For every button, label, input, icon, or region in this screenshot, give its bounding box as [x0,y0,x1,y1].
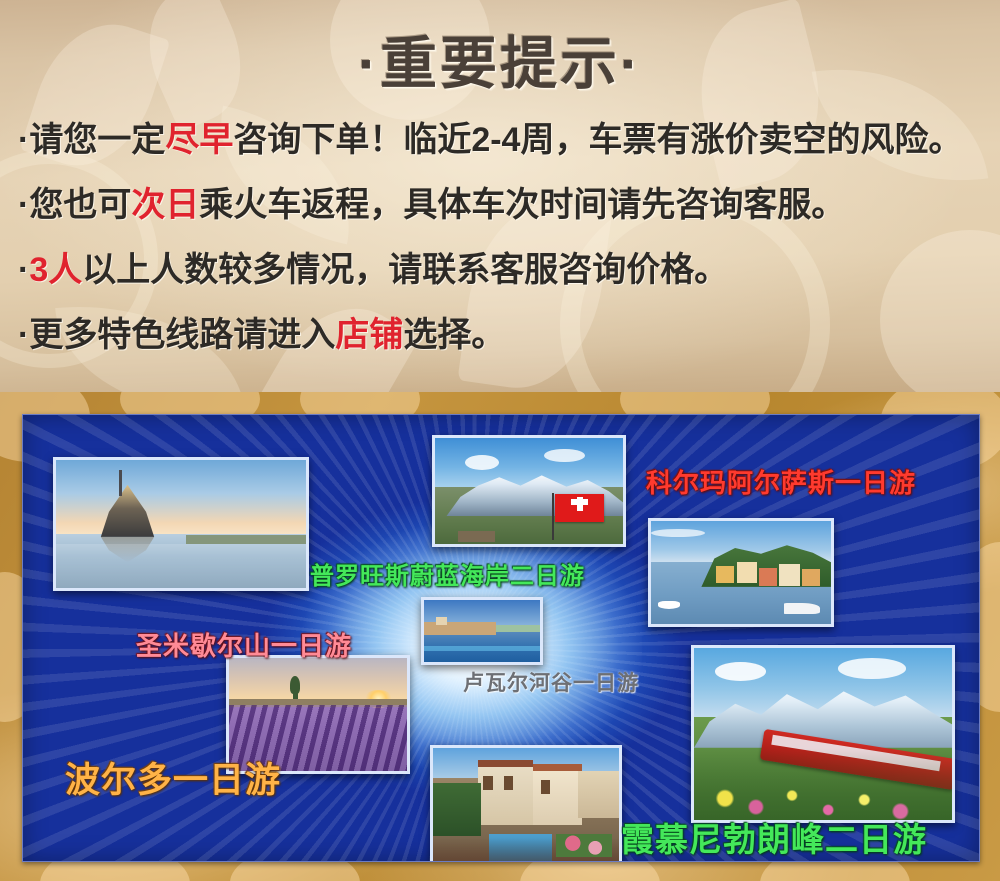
notice-highlight: 3人 [29,251,82,289]
notice-line: ·更多特色线路请进入店铺选择。 [18,303,988,368]
photo-swiss-alps-flag[interactable] [432,435,626,547]
tour-label-bordeaux[interactable]: 波尔多一日游 [65,752,281,803]
page-title: ·重要提示· [0,18,1000,100]
notice-highlight: 次日 [131,186,199,224]
notice-text: 咨询下单！临近2-4周，车票有涨价卖空的风险。 [233,121,962,159]
notice-highlight: 尽早 [165,121,233,159]
notice-line: ·3人以上人数较多情况，请联系客服咨询价格。 [18,238,988,303]
bullet-icon: · [18,186,29,224]
notice-text: 更多特色线路请进入 [29,316,335,354]
tour-label-loire-valley[interactable]: 卢瓦尔河谷一日游 [463,667,639,697]
collage-canvas: 科尔玛阿尔萨斯一日游 普罗旺斯蔚蓝海岸二日游 圣米歇尔山一日游 卢瓦尔河谷一日游… [22,414,980,862]
notice-panel: ·重要提示· ·请您一定尽早咨询下单！临近2-4周，车票有涨价卖空的风险。 ·您… [0,0,1000,392]
notice-text: 选择。 [403,316,505,354]
tour-label-mont-saint-michel[interactable]: 圣米歇尔山一日游 [136,626,352,663]
photo-colmar-canal[interactable] [430,745,622,862]
notice-line: ·您也可次日乘火车返程，具体车次时间请先咨询客服。 [18,173,988,238]
bullet-icon: · [18,251,29,289]
notice-line: ·请您一定尽早咨询下单！临近2-4周，车票有涨价卖空的风险。 [18,108,988,173]
photo-alpine-train[interactable] [691,645,955,823]
photo-mont-saint-michel[interactable] [53,457,309,591]
photo-loire-river[interactable] [421,597,543,665]
notice-highlight: 店铺 [335,316,403,354]
notice-text: 您也可 [29,186,131,224]
notice-text: 以上人数较多情况，请联系客服咨询价格。 [82,251,728,289]
tour-label-chamonix-mont-blanc[interactable]: 霞慕尼勃朗峰二日游 [621,813,927,861]
bullet-icon: · [18,316,29,354]
bullet-icon: · [18,121,29,159]
tour-collage-panel: 科尔玛阿尔萨斯一日游 普罗旺斯蔚蓝海岸二日游 圣米歇尔山一日游 卢瓦尔河谷一日游… [0,392,1000,881]
photo-lake-village[interactable] [648,518,834,627]
notice-text: 请您一定 [29,121,165,159]
promo-page: ·重要提示· ·请您一定尽早咨询下单！临近2-4周，车票有涨价卖空的风险。 ·您… [0,0,1000,881]
tour-label-colmar-alsace[interactable]: 科尔玛阿尔萨斯一日游 [646,463,916,500]
notice-text: 乘火车返程，具体车次时间请先咨询客服。 [199,186,845,224]
notice-list: ·请您一定尽早咨询下单！临近2-4周，车票有涨价卖空的风险。 ·您也可次日乘火车… [18,108,988,368]
tour-label-provence-cote-dazur[interactable]: 普罗旺斯蔚蓝海岸二日游 [310,556,585,591]
